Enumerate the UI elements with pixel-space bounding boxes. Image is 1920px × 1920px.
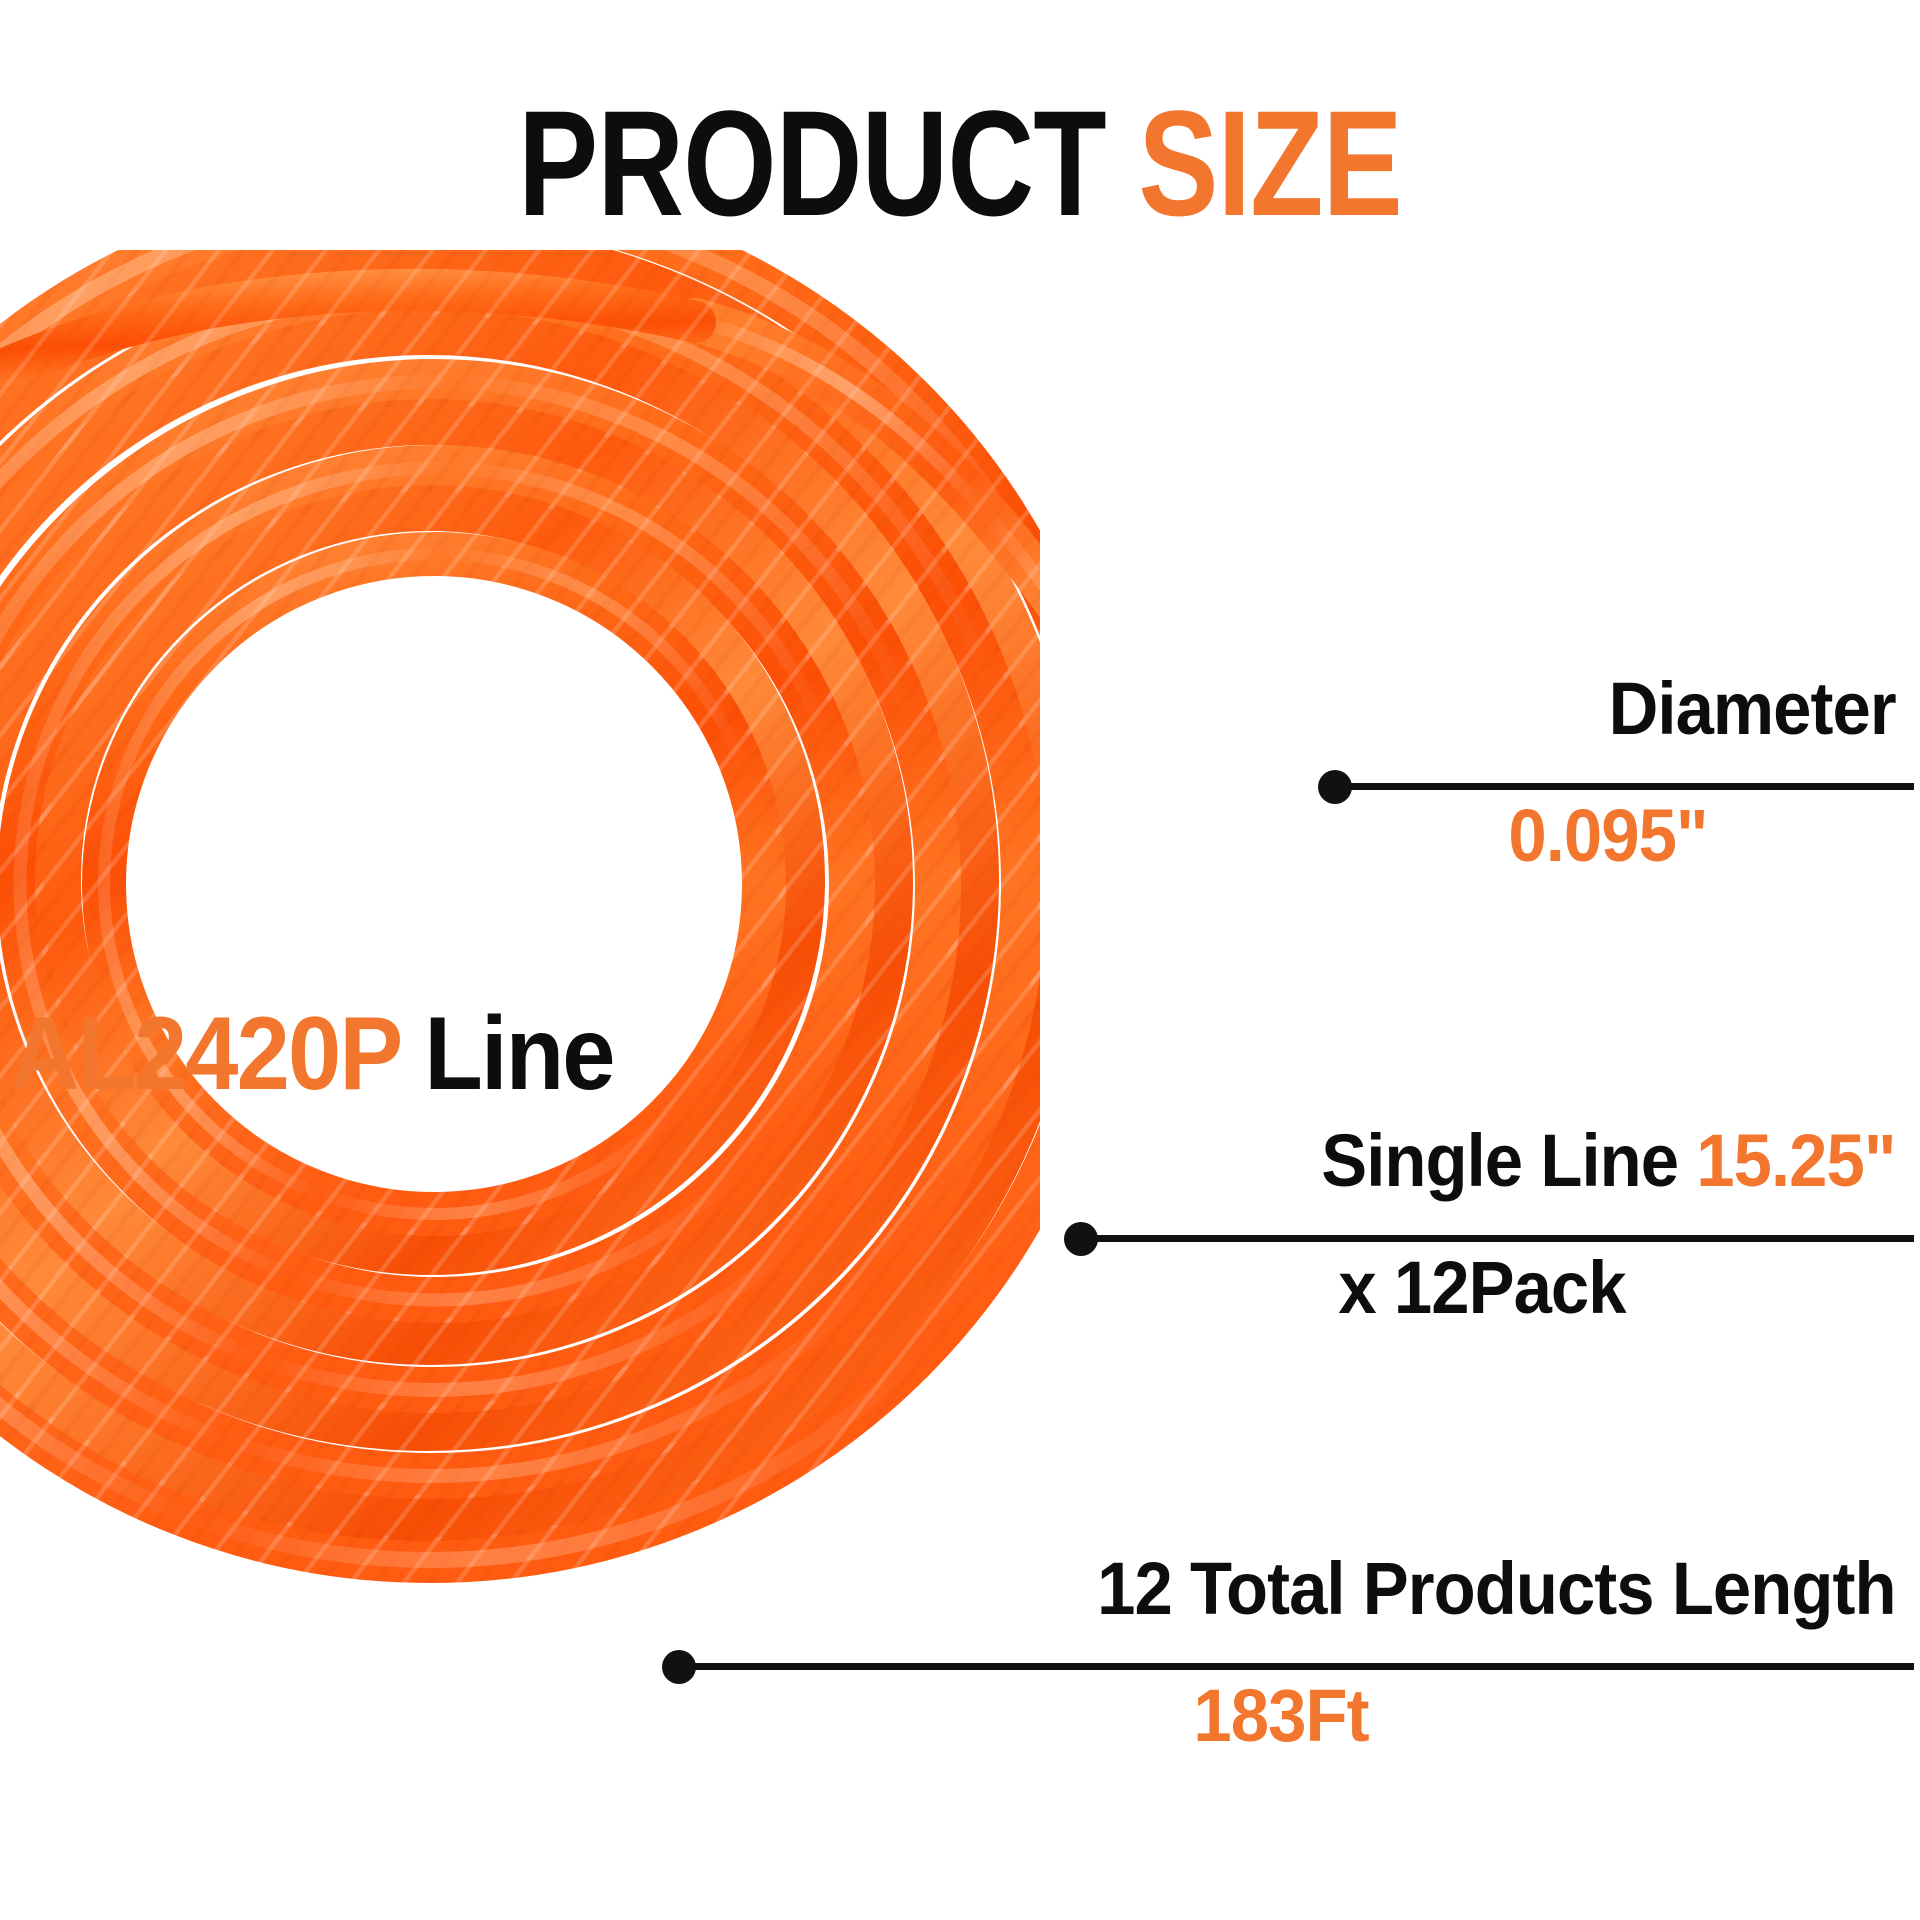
callout-total-length-value-text: 183Ft xyxy=(1193,1674,1368,1757)
callout-diameter-value-text: 0.095" xyxy=(1508,794,1707,877)
page-title-orange: SIZE xyxy=(1138,79,1402,247)
product-size-infographic: PRODUCT SIZE xyxy=(0,0,1920,1920)
callout-diameter-value: 0.095" xyxy=(1320,798,1897,873)
page-title-black: PRODUCT xyxy=(518,79,1138,247)
product-model-suffix: Line xyxy=(400,996,614,1112)
callout-total-length-label-text: 12 Total Products Length xyxy=(1098,1547,1896,1630)
callout-total-length-label: 12 Total Products Length xyxy=(1098,1551,1896,1626)
product-model-code: AL2420P xyxy=(10,996,400,1112)
callout-leader-line-diameter xyxy=(1342,783,1914,790)
callout-diameter-label-text: Diameter xyxy=(1609,667,1896,750)
callout-total-length-value: 183Ft xyxy=(687,1678,1876,1753)
callout-single-line-label-text: Single Line xyxy=(1322,1119,1697,1202)
callout-leader-line-single-line xyxy=(1088,1235,1914,1242)
page-title: PRODUCT SIZE xyxy=(192,88,1728,238)
callout-leader-line-total-length xyxy=(686,1663,1914,1670)
callout-single-line-value-text: 15.25" xyxy=(1697,1119,1896,1202)
callout-diameter-label: Diameter xyxy=(1609,671,1896,746)
callout-single-line-sub-text: x 12Pack xyxy=(1338,1246,1625,1329)
product-model-label: AL2420P Line xyxy=(10,1002,614,1106)
callout-single-line-label: Single Line 15.25" xyxy=(1322,1123,1896,1198)
callout-single-line-sub: x 12Pack xyxy=(1075,1250,1890,1325)
